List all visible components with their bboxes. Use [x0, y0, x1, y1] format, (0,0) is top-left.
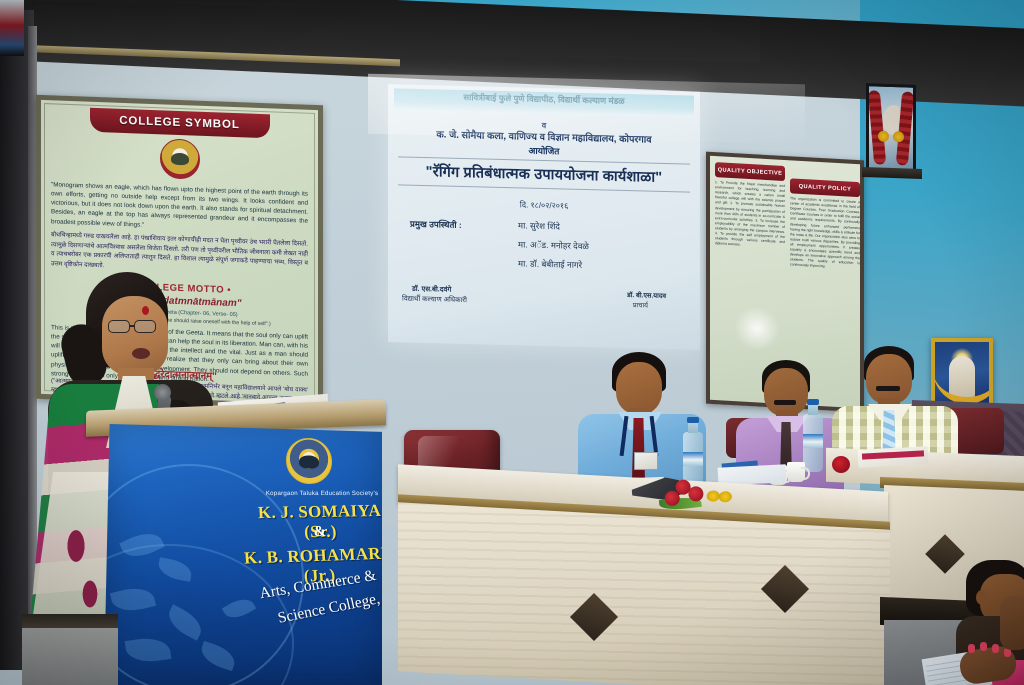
podium-eagle-crest-icon: [286, 437, 332, 485]
portrait-shelf: [862, 167, 922, 179]
slide-guest-3: मा. डॉ. बेबीताई नागरे: [518, 258, 582, 271]
spectacles-right-lens-icon: [134, 320, 156, 333]
floor-left-surface: [22, 628, 118, 685]
slide-footer-left-name: डॉ. एस.बी.दवंगे: [412, 285, 451, 295]
quality-policy-heading: QUALITY POLICY: [790, 178, 860, 197]
audience-second-arm: [1000, 596, 1024, 650]
slide-footer-right-name: डॉ. बी.एस.यादव: [627, 290, 666, 300]
panel-1-id-badge: [634, 452, 658, 470]
spectacles-bridge-icon: [130, 325, 135, 327]
podium-society-line: Kopargaon Taluka Education Society's: [262, 490, 382, 497]
bottle-label-1: [683, 452, 703, 466]
podium-ampersand: &: [250, 523, 382, 542]
poster-english-body: "Monogram shows an eagle, which has flow…: [51, 180, 308, 235]
slide-guest-1: मा. सुरेश शिंदे: [518, 220, 560, 232]
quality-objective-body: 1. To Provide the finest merchandise and…: [715, 180, 785, 250]
panel-2-moustache: [774, 400, 796, 405]
slide-date: दि. १८/०२/२०१६: [388, 196, 700, 215]
top-left-wall-sliver: [0, 0, 24, 56]
table-front-panel: [398, 502, 890, 685]
garland-left-icon: [868, 90, 886, 165]
speaker-mouth: [132, 348, 150, 359]
slide-footer-right-role: प्राचार्य: [633, 300, 648, 309]
panel-2-head: [764, 368, 808, 416]
slide-footer-left-role: विद्यार्थी कल्याण अधिकारी: [402, 295, 467, 306]
audience-ear: [976, 590, 988, 605]
nail-2: [980, 642, 987, 651]
slide-guest-2: मा. अॅड. मनोहर देवळे: [518, 239, 589, 252]
panel-1-head: [616, 362, 662, 414]
nail-3: [992, 644, 999, 653]
panel-3-moustache: [876, 386, 900, 391]
quality-policy-body: The organization is committed to create …: [790, 196, 860, 271]
slide-guests-label: प्रमुख उपस्थिती :: [410, 219, 462, 231]
table-wood-grain: [398, 502, 890, 685]
water-bottle-2: [803, 414, 823, 472]
garland-right-icon: [896, 91, 914, 166]
quality-objective-heading: QUALITY OBJECTIVE: [715, 162, 785, 181]
single-red-rose: [832, 456, 850, 473]
seminar-hall-photo: COLLEGE SYMBOL "Monogram shows an eagle,…: [0, 0, 1024, 685]
projection-screen: सावित्रीबाई फुले पुणे विद्यापीठ, विद्यार…: [388, 84, 700, 350]
spectacles-left-lens-icon: [108, 320, 130, 333]
college-crest-icon: [160, 138, 200, 179]
speaker-face: [102, 296, 168, 376]
quality-board-glare: [734, 305, 780, 352]
nail-1: [968, 644, 975, 653]
marigold-left-icon: [878, 131, 889, 142]
panel-3-head: [866, 354, 912, 404]
marigold-right-icon: [893, 131, 904, 142]
slide-workshop-title: "रॅगिंग प्रतिबंधात्मक उपाययोजना कार्यशाळ…: [392, 160, 696, 187]
paper-cup-2: [787, 462, 805, 482]
microphone-head-icon: [154, 384, 171, 401]
podium-front-banner: Kopargaon Taluka Education Society's K. …: [104, 424, 382, 685]
bottle-label-2: [803, 434, 823, 448]
bouquet-rose-2: [688, 486, 704, 502]
panel-1-tie: [632, 418, 645, 480]
garlanded-portrait-frame: [866, 83, 916, 173]
bindi-icon: [142, 306, 149, 315]
